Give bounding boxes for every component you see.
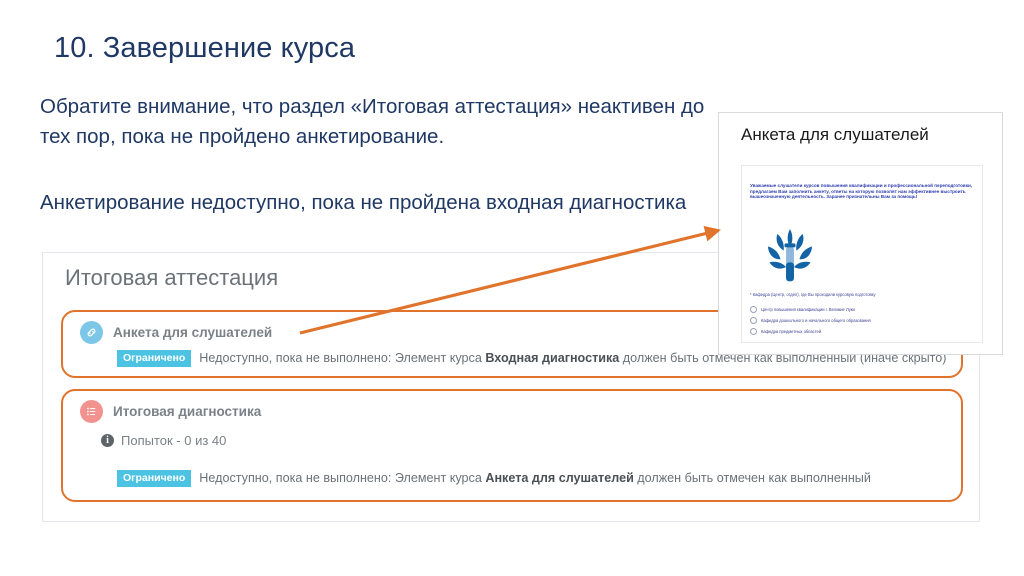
restriction-bold: Анкета для слушателей: [485, 471, 633, 485]
questionnaire-options: Центр повышения квалификации г. Великие …: [750, 304, 980, 337]
plant-flask-logo: [758, 226, 822, 286]
attempts-text: Попыток - 0 из 40: [121, 433, 226, 448]
restriction-suffix: должен быть отмечен как выполненный: [634, 471, 871, 485]
attempts-row: i Попыток - 0 из 40: [101, 433, 226, 448]
paragraph-note-2: Анкетирование недоступно, пока не пройде…: [40, 188, 720, 218]
radio-button-icon[interactable]: [750, 317, 757, 324]
status-badge: Ограничено: [117, 470, 191, 487]
activity-header[interactable]: Анкета для слушателей: [80, 321, 272, 344]
radio-option[interactable]: Центр повышения квалификации г. Великие …: [750, 304, 980, 315]
activity-name[interactable]: Итоговая диагностика: [113, 404, 261, 419]
radio-option[interactable]: Кафедра дошкольного и начального общего …: [750, 315, 980, 326]
questionnaire-page: Уважаемые слушатели курсов повышения ква…: [741, 165, 983, 343]
questionnaire-question: * Кафедра (Центр, отдел), где Вы проходи…: [750, 292, 980, 297]
restriction-prefix: Недоступно, пока не выполнено: Элемент к…: [199, 351, 485, 365]
status-badge: Ограничено: [117, 350, 191, 367]
radio-button-icon[interactable]: [750, 328, 757, 335]
radio-option[interactable]: Кафедра предметных областей: [750, 326, 980, 337]
radio-option-label[interactable]: Кафедра предметных областей: [761, 329, 821, 334]
popup-title: Анкета для слушателей: [741, 125, 929, 145]
activity-item-quiz[interactable]: Итоговая диагностика i Попыток - 0 из 40…: [61, 389, 963, 502]
radio-option-label[interactable]: Центр повышения квалификации г. Великие …: [761, 307, 855, 312]
activity-name[interactable]: Анкета для слушателей: [113, 325, 272, 340]
restriction-prefix: Недоступно, пока не выполнено: Элемент к…: [199, 471, 485, 485]
radio-option-label[interactable]: Кафедра дошкольного и начального общего …: [761, 318, 871, 323]
activity-header[interactable]: Итоговая диагностика: [80, 400, 261, 423]
questionnaire-intro-text: Уважаемые слушатели курсов повышения ква…: [750, 183, 978, 200]
paragraph-note-1: Обратите внимание, что раздел «Итоговая …: [40, 92, 720, 152]
info-icon: i: [101, 434, 114, 447]
questionnaire-preview-popup: Анкета для слушателей Уважаемые слушател…: [718, 112, 1003, 355]
radio-button-icon[interactable]: [750, 306, 757, 313]
feedback-icon: [80, 321, 103, 344]
restriction-text: Недоступно, пока не выполнено: Элемент к…: [199, 471, 871, 485]
restriction-row: Ограничено Недоступно, пока не выполнено…: [117, 470, 871, 487]
page-title: 10. Завершение курса: [54, 32, 355, 65]
section-title: Итоговая аттестация: [65, 265, 278, 291]
quiz-icon: [80, 400, 103, 423]
restriction-bold: Входная диагностика: [485, 351, 619, 365]
